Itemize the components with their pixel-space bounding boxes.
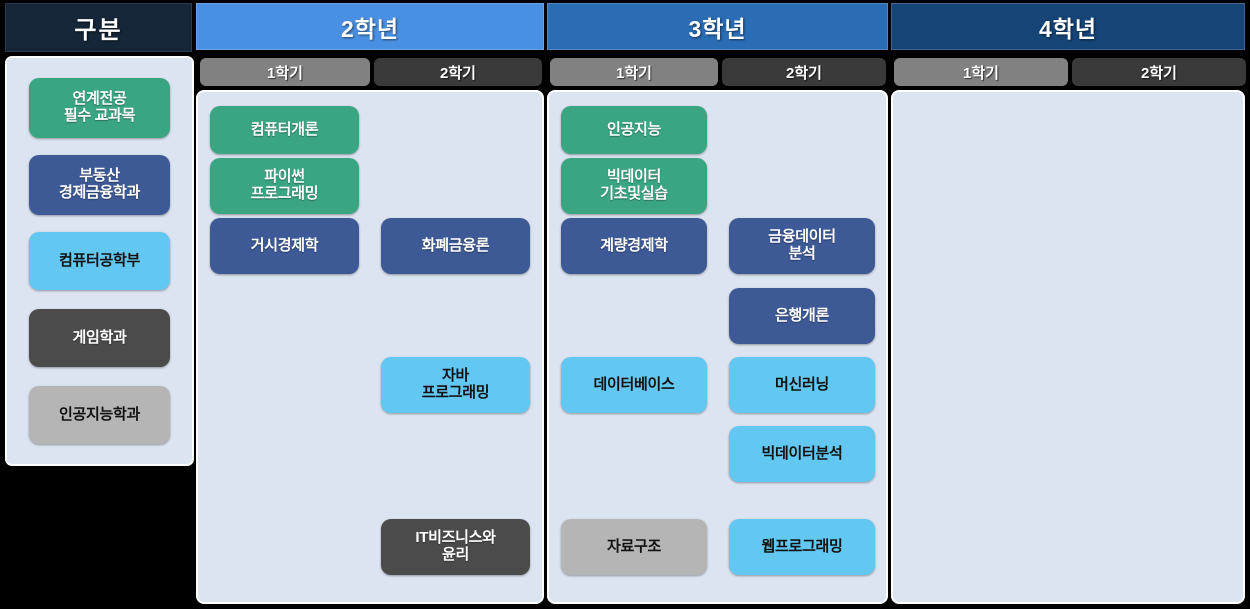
course-card[interactable]: 머신러닝 <box>729 357 875 413</box>
course-card[interactable]: 인공지능 <box>561 106 707 154</box>
course-card[interactable]: 빅데이터기초및실습 <box>561 158 707 214</box>
course-card[interactable]: 은행개론 <box>729 288 875 344</box>
year-header-4[interactable]: 4학년 <box>891 3 1245 50</box>
legend-item-0[interactable]: 연계전공필수 교과목 <box>29 78 170 138</box>
year-panel-2: 컴퓨터개론파이썬프로그래밍거시경제학화폐금융론자바프로그래밍IT비즈니스와윤리 <box>196 90 544 604</box>
course-card[interactable]: 거시경제학 <box>210 218 359 274</box>
semester-tab-2-1[interactable]: 1학기 <box>200 58 370 86</box>
legend-item-3[interactable]: 게임학과 <box>29 309 170 367</box>
course-card[interactable]: 빅데이터분석 <box>729 426 875 482</box>
course-card[interactable]: IT비즈니스와윤리 <box>381 519 530 575</box>
course-card[interactable]: 웹프로그래밍 <box>729 519 875 575</box>
course-card[interactable]: 파이썬프로그래밍 <box>210 158 359 214</box>
semester-tab-3-2[interactable]: 2학기 <box>722 58 886 86</box>
course-card[interactable]: 자바프로그래밍 <box>381 357 530 413</box>
semester-tab-3-1[interactable]: 1학기 <box>550 58 718 86</box>
year-panel-3: 인공지능빅데이터기초및실습계량경제학금융데이터분석은행개론데이터베이스머신러닝빅… <box>547 90 888 604</box>
year-panel-4 <box>891 90 1245 604</box>
legend-item-2[interactable]: 컴퓨터공학부 <box>29 232 170 290</box>
course-card[interactable]: 자료구조 <box>561 519 707 575</box>
semester-tab-4-1[interactable]: 1학기 <box>894 58 1068 86</box>
course-card[interactable]: 계량경제학 <box>561 218 707 274</box>
year-header-2[interactable]: 2학년 <box>196 3 544 50</box>
legend-header: 구분 <box>5 3 192 52</box>
year-header-3[interactable]: 3학년 <box>547 3 888 50</box>
legend-item-1[interactable]: 부동산경제금융학과 <box>29 155 170 215</box>
course-card[interactable]: 금융데이터분석 <box>729 218 875 274</box>
legend-item-4[interactable]: 인공지능학과 <box>29 386 170 444</box>
semester-tab-2-2[interactable]: 2학기 <box>374 58 542 86</box>
course-card[interactable]: 컴퓨터개론 <box>210 106 359 154</box>
legend-panel: 연계전공필수 교과목부동산경제금융학과컴퓨터공학부게임학과인공지능학과 <box>5 56 194 466</box>
course-card[interactable]: 데이터베이스 <box>561 357 707 413</box>
legend-header-label: 구분 <box>74 10 122 45</box>
course-card[interactable]: 화폐금융론 <box>381 218 530 274</box>
semester-tab-4-2[interactable]: 2학기 <box>1072 58 1246 86</box>
